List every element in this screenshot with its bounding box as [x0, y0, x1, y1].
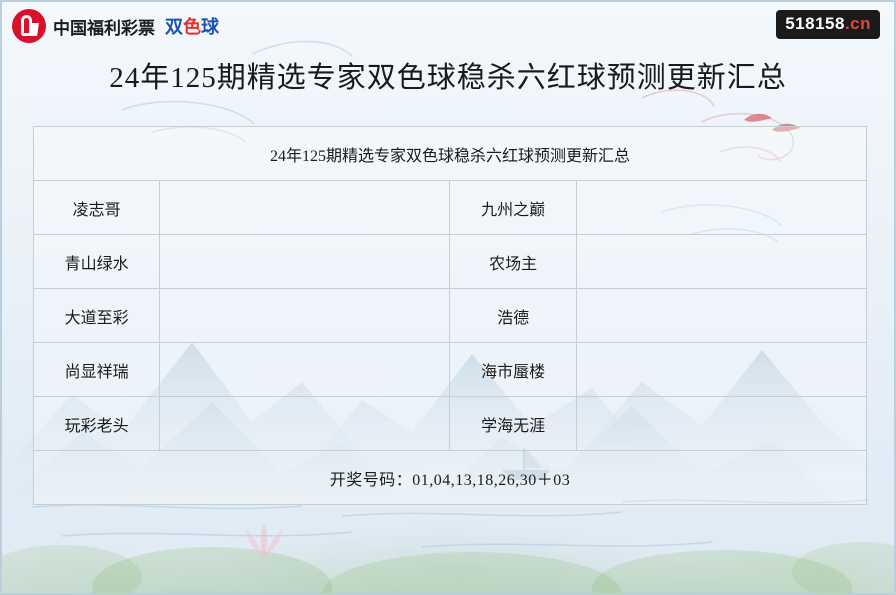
product-name-label: 双色球: [165, 13, 219, 39]
expert-prediction: [160, 397, 450, 451]
expert-prediction: [576, 397, 866, 451]
expert-prediction: [160, 181, 450, 235]
table-row: 玩彩老头 学海无涯: [34, 397, 867, 451]
expert-prediction: [160, 343, 450, 397]
prediction-table-container: 24年125期精选专家双色球稳杀六红球预测更新汇总 凌志哥 九州之巅 青山绿水 …: [33, 126, 863, 505]
expert-name: 大道至彩: [34, 289, 160, 343]
product-name-char-3: 球: [201, 17, 219, 37]
expert-name: 尚显祥瑞: [34, 343, 160, 397]
expert-prediction: [160, 235, 450, 289]
product-name-char-1: 双: [165, 17, 183, 37]
brand-logo[interactable]: 中国福利彩票 双色球: [12, 9, 219, 43]
expert-prediction: [576, 289, 866, 343]
expert-prediction: [576, 343, 866, 397]
table-row: 大道至彩 浩德: [34, 289, 867, 343]
expert-name: 学海无涯: [450, 397, 576, 451]
expert-name: 海市蜃楼: [450, 343, 576, 397]
prediction-table: 24年125期精选专家双色球稳杀六红球预测更新汇总 凌志哥 九州之巅 青山绿水 …: [33, 126, 867, 505]
welfare-lottery-icon: [12, 9, 46, 43]
expert-name: 九州之巅: [450, 181, 576, 235]
expert-name: 浩德: [450, 289, 576, 343]
expert-prediction: [160, 289, 450, 343]
table-row: 青山绿水 农场主: [34, 235, 867, 289]
table-caption-row: 24年125期精选专家双色球稳杀六红球预测更新汇总: [34, 127, 867, 181]
expert-prediction: [576, 235, 866, 289]
table-row: 尚显祥瑞 海市蜃楼: [34, 343, 867, 397]
site-watermark-domain: .cn: [845, 14, 871, 33]
table-caption: 24年125期精选专家双色球稳杀六红球预测更新汇总: [34, 127, 867, 181]
brand-name-label: 中国福利彩票: [53, 14, 155, 39]
site-watermark-name: 518158: [785, 14, 845, 33]
table-row: 凌志哥 九州之巅: [34, 181, 867, 235]
expert-prediction: [576, 181, 866, 235]
site-header: 中国福利彩票 双色球 518158.cn: [2, 2, 894, 50]
page-title: 24年125期精选专家双色球稳杀六红球预测更新汇总: [2, 54, 894, 96]
winning-numbers: 开奖号码：01,04,13,18,26,30＋03: [34, 451, 867, 505]
page-root: 中国福利彩票 双色球 518158.cn 24年125期精选专家双色球稳杀六红球…: [0, 0, 896, 595]
table-footer-row: 开奖号码：01,04,13,18,26,30＋03: [34, 451, 867, 505]
expert-name: 农场主: [450, 235, 576, 289]
expert-name: 玩彩老头: [34, 397, 160, 451]
product-name-char-2: 色: [183, 17, 201, 37]
expert-name: 凌志哥: [34, 181, 160, 235]
expert-name: 青山绿水: [34, 235, 160, 289]
site-watermark-badge: 518158.cn: [776, 10, 880, 39]
